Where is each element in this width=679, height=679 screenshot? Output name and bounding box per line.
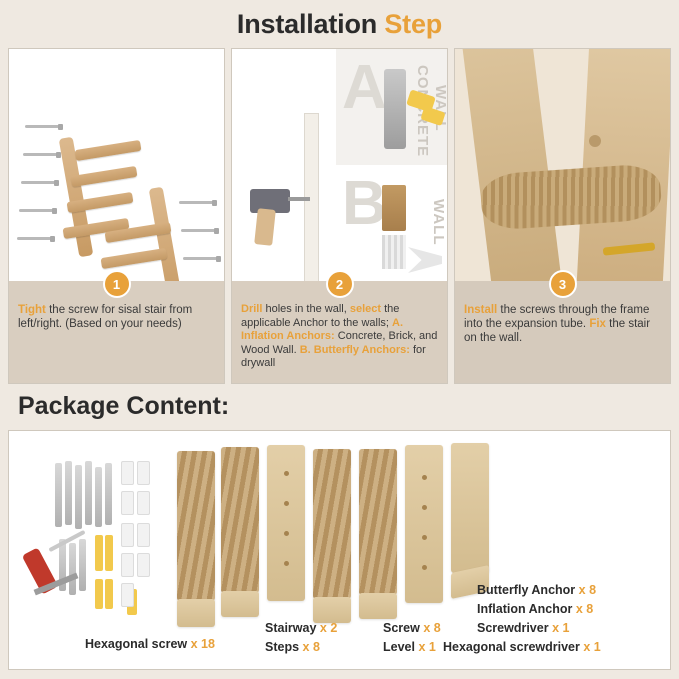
screw-icon — [183, 257, 217, 260]
step-card-3: 3 Install the screws through the frame i… — [454, 48, 671, 384]
page-title-main: Installation — [237, 9, 384, 39]
butterfly-anchor-icon — [382, 185, 406, 231]
caption-keyword: Drill — [241, 303, 262, 315]
item-qty: x 2 — [320, 621, 337, 635]
label-b: B — [342, 173, 387, 235]
drywall-icon — [382, 235, 406, 269]
item-name: Stairway — [265, 621, 316, 635]
item-name: Hexagonal screwdriver — [443, 640, 580, 654]
item-qty: x 8 — [303, 640, 320, 654]
butterfly-anchor-icon — [121, 491, 134, 515]
plank-hole — [284, 471, 289, 476]
item-label-butterfly-anchor: Butterfly Anchor x 8 — [477, 583, 596, 597]
screw-icon — [19, 209, 53, 212]
item-qty: x 8 — [423, 621, 440, 635]
hexagonal-screw-icon — [55, 463, 62, 527]
screw-hole — [589, 135, 601, 147]
plank-hole — [284, 501, 289, 506]
mounted-step-art — [455, 49, 670, 281]
butterfly-anchor-icon — [121, 583, 134, 607]
hexagonal-screw-icon — [69, 543, 76, 595]
screw-icon — [179, 201, 213, 204]
hexagonal-screw-icon — [95, 467, 102, 527]
step-badge-2: 2 — [326, 270, 354, 298]
inflation-anchor-icon — [95, 535, 103, 571]
hexagonal-screw-icon — [105, 463, 112, 525]
item-name: Screw — [383, 621, 420, 635]
item-label-steps: Steps x 8 — [265, 640, 320, 654]
item-label-hexagonal-screw: Hexagonal screw x 18 — [85, 637, 215, 651]
hexagonal-screw-icon — [75, 465, 82, 529]
butterfly-anchor-icon — [137, 523, 150, 547]
item-qty: x 18 — [191, 637, 215, 651]
drill-bit-icon — [288, 197, 310, 201]
step-card-1: 1 Tight the screw for sisal stair from l… — [8, 48, 225, 384]
item-label-hexagonal-screwdriver: Hexagonal screwdriver x 1 — [443, 640, 601, 654]
step-1-illustration — [9, 49, 224, 281]
screw-icon — [181, 229, 215, 232]
step-plank-end — [177, 599, 215, 627]
step-plank — [221, 447, 259, 593]
hexagonal-screw-icon — [85, 461, 92, 525]
screw-icon — [25, 125, 59, 128]
sisal-stair-art — [9, 49, 224, 281]
item-name: Hexagonal screw — [85, 637, 187, 651]
screw-icon — [21, 181, 55, 184]
hexagonal-screw-icon — [79, 539, 86, 591]
package-content-panel: Butterfly Anchor x 8 Inflation Anchor x … — [8, 430, 671, 670]
screw-icon — [17, 237, 51, 240]
stair-step — [75, 140, 142, 161]
item-label-inflation-anchor: Inflation Anchor x 8 — [477, 602, 593, 616]
caption-keyword: Fix — [589, 318, 606, 330]
step-card-2: A B CONCRETE WALL WALL — [231, 48, 448, 384]
label-a: A — [342, 57, 387, 119]
stair-step — [101, 248, 168, 269]
plank-hole — [284, 531, 289, 536]
caption-keyword: Install — [464, 304, 497, 316]
item-qty: x 8 — [576, 602, 593, 616]
butterfly-anchor-icon — [137, 461, 150, 485]
item-label-screwdriver: Screwdriver x 1 — [477, 621, 569, 635]
inflation-anchor-icon — [95, 579, 103, 609]
step-plank-end — [313, 597, 351, 623]
step-plank-end — [221, 591, 259, 617]
item-name: Screwdriver — [477, 621, 549, 635]
anchor-selection-art: A B CONCRETE WALL WALL — [232, 49, 447, 281]
item-qty: x 1 — [552, 621, 569, 635]
step-badge-1: 1 — [103, 270, 131, 298]
item-name: Butterfly Anchor — [477, 583, 575, 597]
item-label-level: Level x 1 — [383, 640, 436, 654]
drill-handle-icon — [254, 208, 276, 246]
hexagonal-screw-icon — [65, 461, 72, 525]
step-2-illustration: A B CONCRETE WALL WALL — [232, 49, 447, 281]
stairway-plank — [405, 445, 443, 603]
package-content-heading: Package Content: — [18, 392, 229, 421]
step-plank — [359, 449, 397, 595]
step-plank — [313, 449, 351, 599]
stair-step — [71, 166, 138, 187]
inflation-anchor-icon — [384, 69, 406, 149]
butterfly-anchor-icon — [121, 553, 134, 577]
caption-keyword: Tight — [18, 304, 46, 316]
step-badge-3: 3 — [549, 270, 577, 298]
inflation-anchor-icon — [105, 579, 113, 609]
screw-icon — [23, 153, 57, 156]
item-label-stairway: Stairway x 2 — [265, 621, 337, 635]
butterfly-anchor-icon — [137, 491, 150, 515]
label-wall-b: WALL — [430, 199, 447, 246]
butterfly-anchor-icon — [121, 523, 134, 547]
item-qty: x 1 — [418, 640, 435, 654]
item-name: Level — [383, 640, 415, 654]
steps-row: 1 Tight the screw for sisal stair from l… — [8, 48, 671, 384]
caption-text: holes in the wall, — [262, 303, 349, 315]
plank-hole — [422, 475, 427, 480]
plank-hole — [284, 561, 289, 566]
plank-hole — [422, 535, 427, 540]
step-plank — [177, 451, 215, 601]
item-name: Steps — [265, 640, 299, 654]
page-title: Installation Step — [0, 0, 679, 40]
item-label-screw: Screw x 8 — [383, 621, 441, 635]
plank-hole — [422, 565, 427, 570]
item-name: Inflation Anchor — [477, 602, 572, 616]
caption-keyword: select — [350, 303, 381, 315]
caption-keyword: B. Butterfly Anchors: — [300, 344, 410, 356]
page-title-highlight: Step — [384, 9, 442, 39]
step-3-illustration — [455, 49, 670, 281]
inflation-anchor-icon — [105, 535, 113, 571]
installation-guide-page: Installation Step — [0, 0, 679, 679]
butterfly-anchor-icon — [137, 553, 150, 577]
butterfly-anchor-icon — [121, 461, 134, 485]
plank-hole — [422, 505, 427, 510]
item-qty: x 1 — [583, 640, 600, 654]
item-qty: x 8 — [579, 583, 596, 597]
stairway-plank — [267, 445, 305, 601]
step-plank-end — [359, 593, 397, 619]
level-bar — [451, 443, 489, 573]
